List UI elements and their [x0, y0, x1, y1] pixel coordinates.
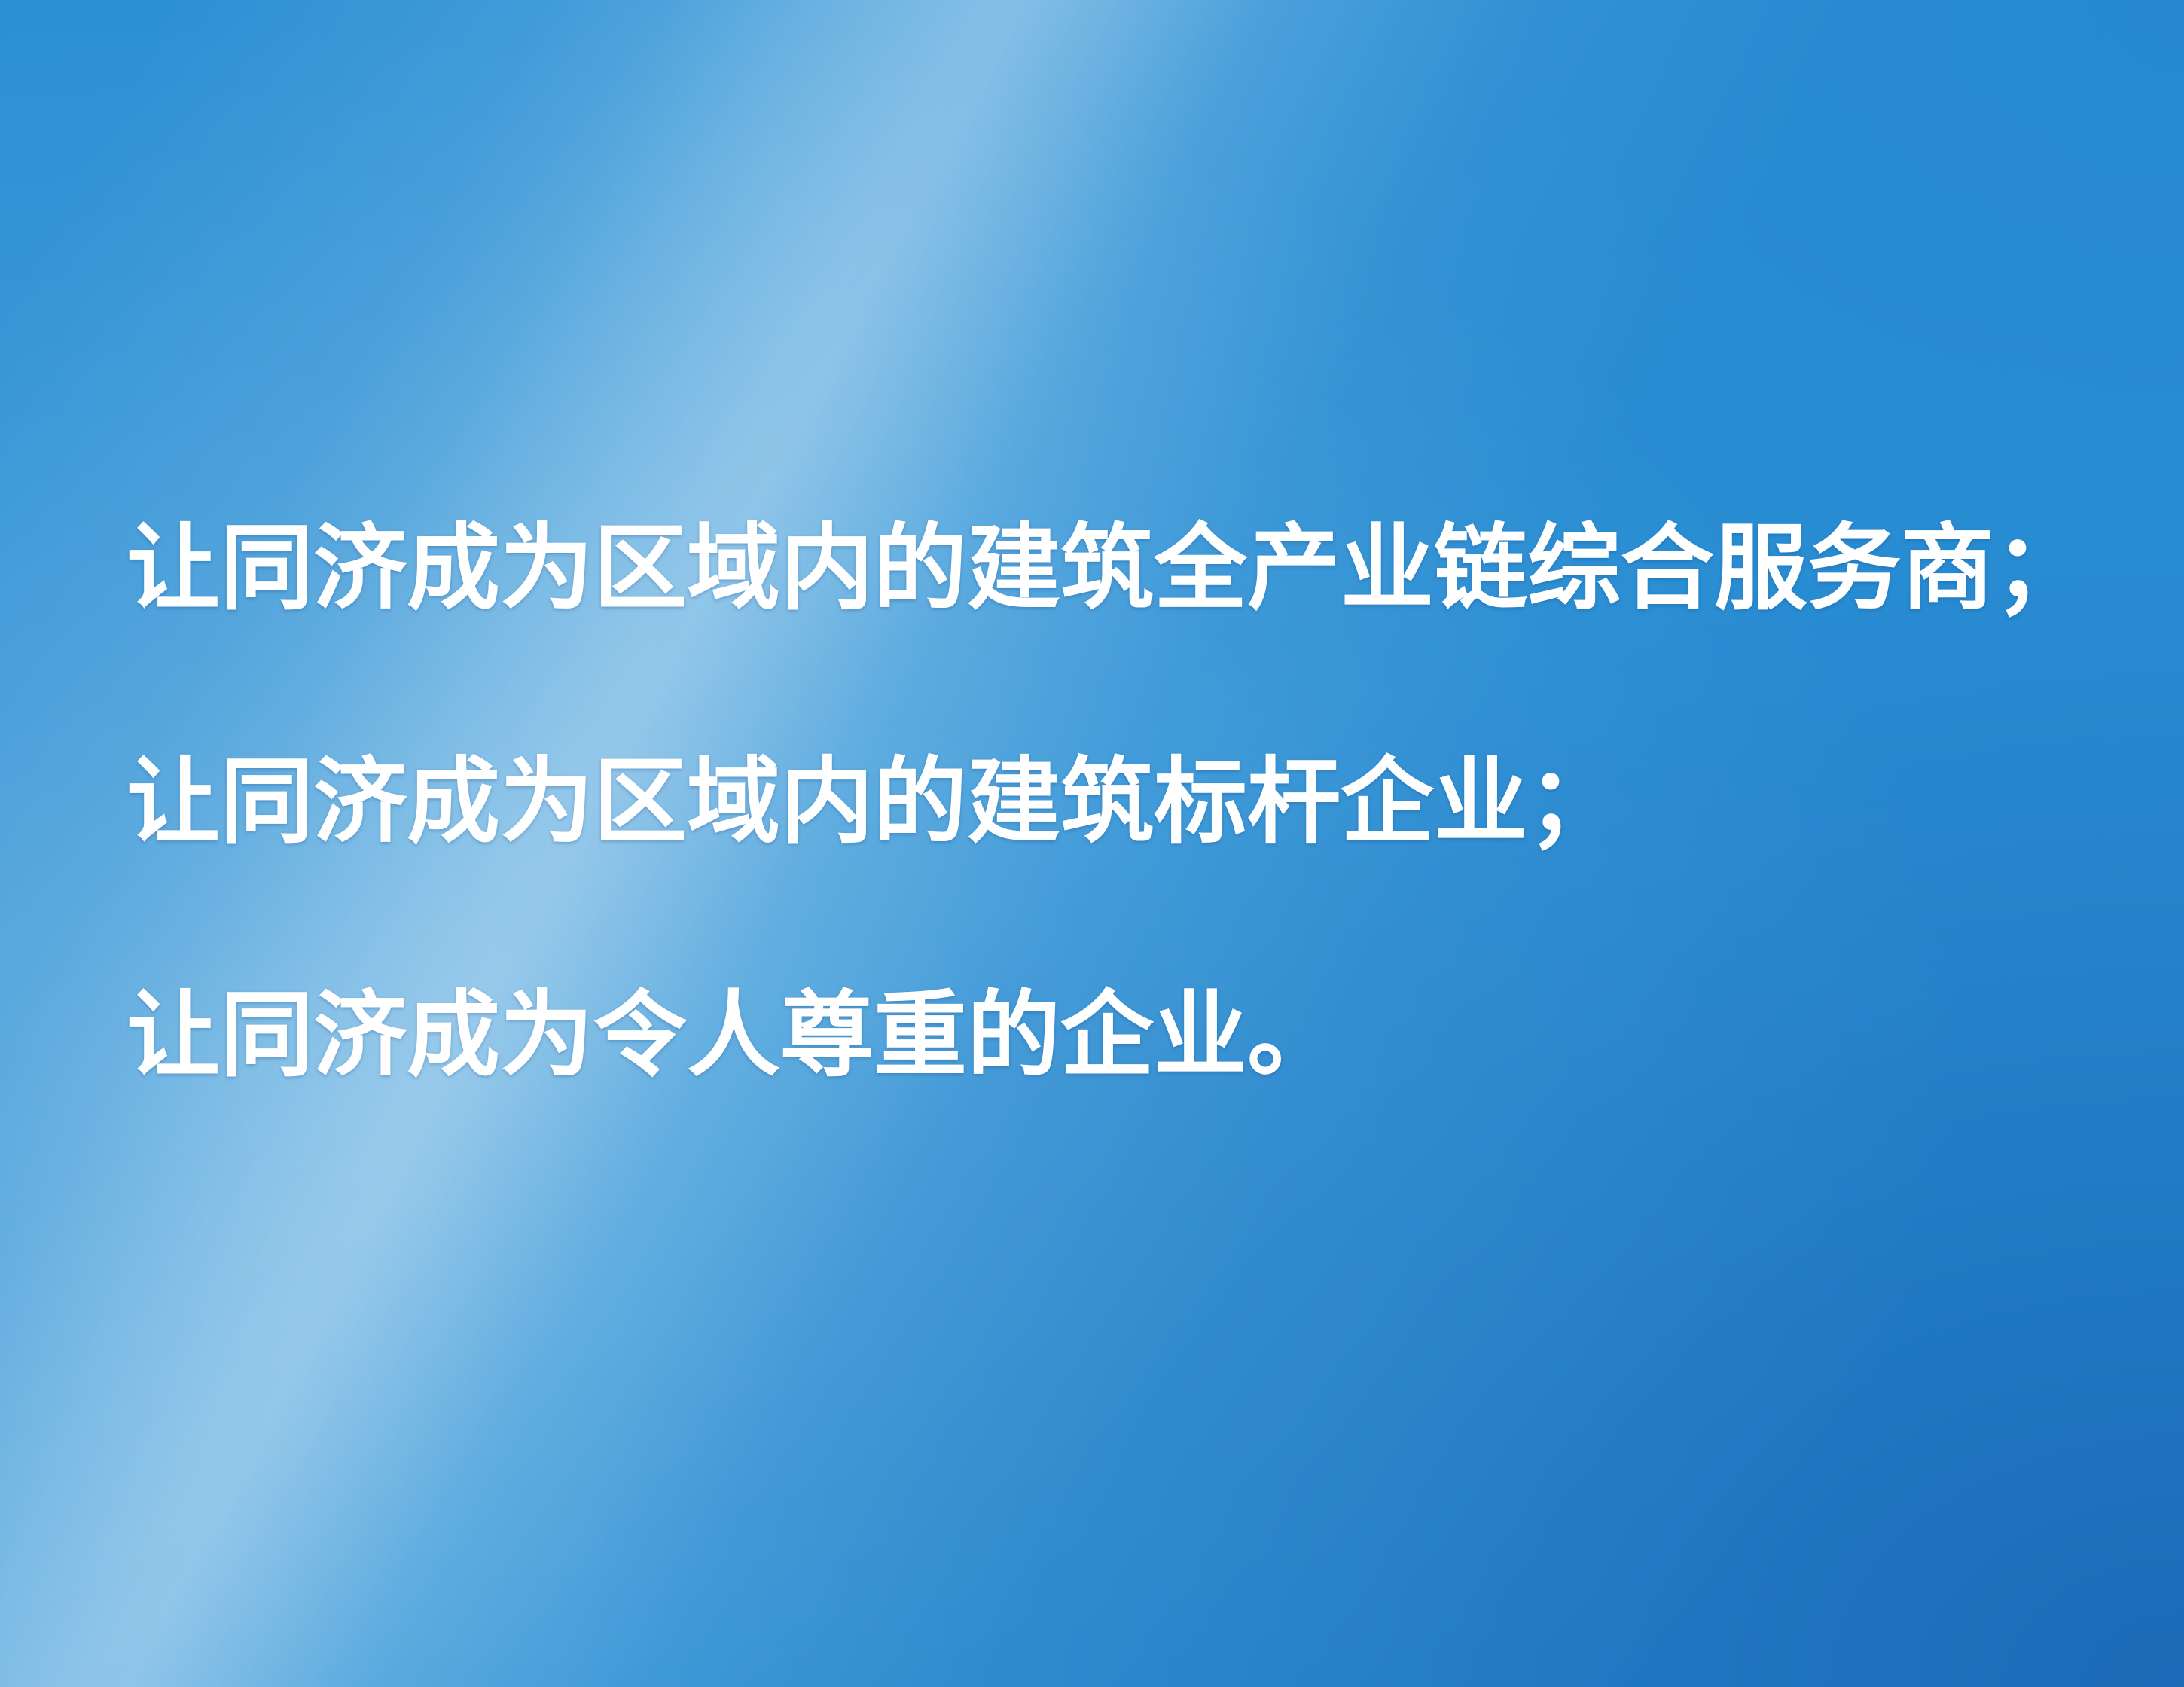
slide-text-line-3: 让同济成为令人尊重的企业。 [127, 919, 2100, 1152]
presentation-slide: 让同济成为区域内的建筑全产业链综合服务商； 让同济成为区域内的建筑标杆企业； 让… [0, 0, 2184, 1687]
slide-body-text: 让同济成为区域内的建筑全产业链综合服务商； 让同济成为区域内的建筑标杆企业； 让… [127, 452, 2100, 1152]
slide-text-line-2: 让同济成为区域内的建筑标杆企业； [127, 685, 2100, 919]
slide-text-line-1: 让同济成为区域内的建筑全产业链综合服务商； [127, 452, 2100, 685]
